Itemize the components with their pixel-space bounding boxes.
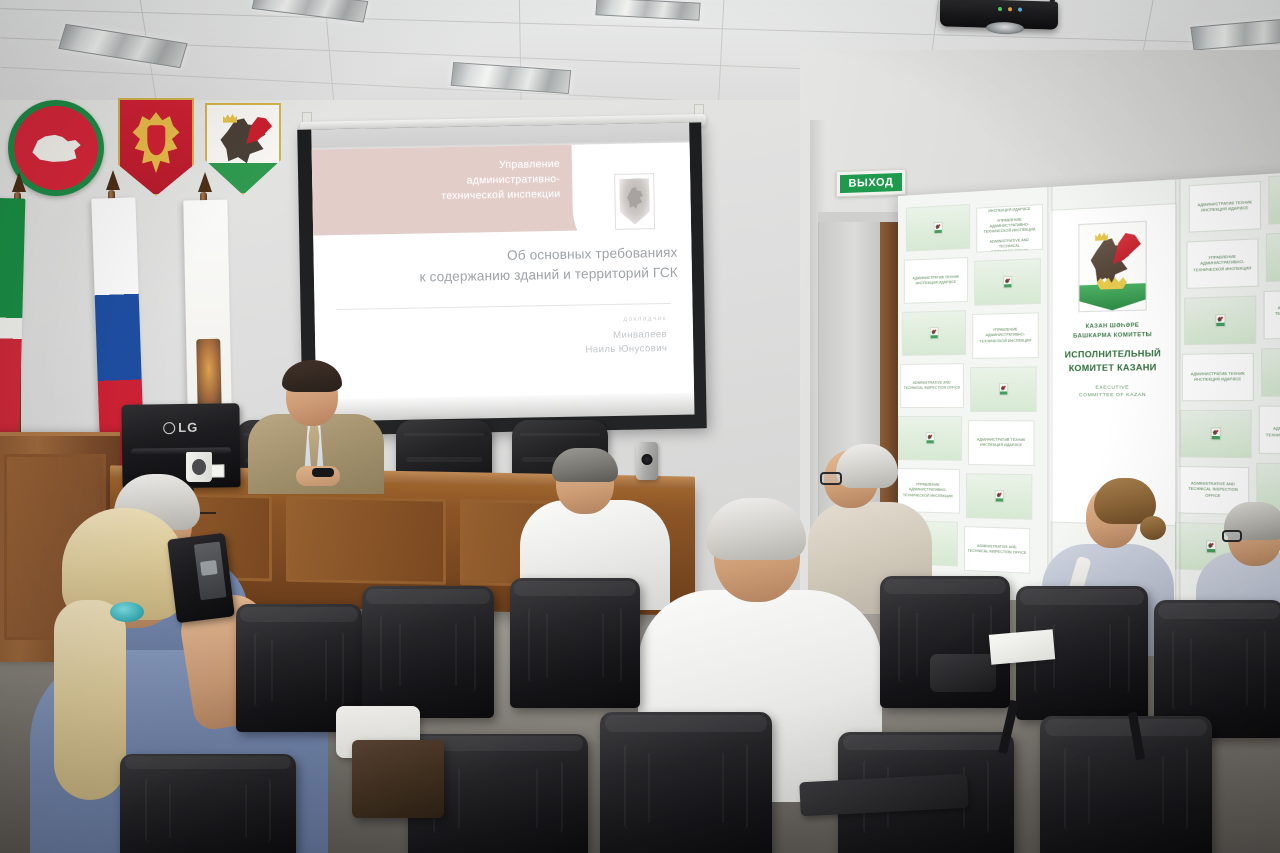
audience-hair-bun-knot xyxy=(1140,516,1166,540)
lg-logo: LG xyxy=(163,420,198,435)
press-wall-tile xyxy=(1268,172,1280,225)
press-wall-tile xyxy=(898,416,962,461)
audience-hair xyxy=(836,444,898,488)
slide-speaker-block: докладчик Минвалеев Наиль Юнусович xyxy=(585,315,668,358)
phone-viewfinder xyxy=(194,541,227,600)
press-wall-hero-logo: КАЗАН ШӘҺӘРЕ БАШКАРМА КОМИТЕТЫ ИСПОЛНИТЕ… xyxy=(1049,203,1177,526)
slide-speaker-label: докладчик xyxy=(585,315,667,323)
press-wall-russian-title: ИСПОЛНИТЕЛЬНЫЙ КОМИТЕТ КАЗАНИ xyxy=(1065,348,1161,375)
presentation-slide: Управление административно- технической … xyxy=(312,143,695,400)
slide-divider xyxy=(337,303,671,310)
press-wall-tile: УПРАВЛЕНИЕ АДМИНИСТРАТИВНО-ТЕХНИЧЕСКОЙ И… xyxy=(972,312,1039,359)
press-wall-tile xyxy=(902,310,966,356)
press-wall-tile: АДМИНИСТРАТИВ ТЕХНИК ИНСПЕКЦИЯ ИДАРӘСЕ xyxy=(968,420,1034,466)
press-wall-tile xyxy=(974,258,1041,306)
press-wall-tile: УПРАВЛЕНИЕ АДМИНИСТРАТИВНО-ТЕХНИЧЕСКОЙ И… xyxy=(1259,405,1280,454)
photographer-ponytail xyxy=(54,600,126,800)
press-wall-tile xyxy=(970,366,1037,412)
audience-chair[interactable] xyxy=(600,712,772,853)
press-wall-tile: УПРАВЛЕНИЕ АДМИНИСТРАТИВНО-ТЕХНИЧЕСКОЙ И… xyxy=(1186,238,1258,289)
slide-title: Об основных требованиях к содержанию зда… xyxy=(329,243,678,290)
audience-hair xyxy=(552,448,618,482)
press-wall-tile: АДМИНИСТРАТИВ ТЕХНИК ИНСПЕКЦИЯ ИДАРӘСЕ У… xyxy=(976,204,1043,253)
eyeglasses-icon xyxy=(820,472,842,485)
press-wall-tile xyxy=(1180,410,1252,458)
audience-chair[interactable] xyxy=(1040,716,1212,853)
dark-bag xyxy=(930,654,996,692)
hair-scrunchie xyxy=(110,602,144,622)
press-wall-tile xyxy=(966,473,1032,520)
slide-coat-of-arms-icon xyxy=(614,173,655,230)
slide-speaker-name: Минвалеев Наиль Юнусович xyxy=(585,328,667,358)
press-wall-tile xyxy=(1184,296,1256,346)
press-wall-tile-text: АДМИНИСТРАТИВ ТЕХНИК ИНСПЕКЦИЯ ИДАРӘСЕ У… xyxy=(977,204,1042,253)
press-wall-tile: АДМИНИСТРАТИВ ТЕХНИК ИНСПЕКЦИЯ ИДАРӘСЕ xyxy=(1189,181,1261,233)
conference-room-scene: ВЫХОД xyxy=(0,0,1280,853)
press-wall-tile xyxy=(1261,347,1280,397)
lg-mark-icon xyxy=(163,422,175,434)
smartphone[interactable] xyxy=(167,533,235,623)
eyeglasses-icon xyxy=(1222,530,1242,542)
press-wall-tile xyxy=(1266,230,1280,282)
press-wall-tile xyxy=(906,204,970,252)
kazan-coat-of-arms xyxy=(205,103,281,195)
press-wall-tatar-title: КАЗАН ШӘҺӘРЕ БАШКАРМА КОМИТЕТЫ xyxy=(1073,321,1152,341)
slide-organization-text: Управление административно- технической … xyxy=(350,157,561,206)
audience-chair[interactable] xyxy=(362,586,494,718)
kazan-zilant-emblem-icon xyxy=(1078,221,1146,313)
presentation-clicker[interactable] xyxy=(312,468,334,477)
projection-screen: Управление административно- технической … xyxy=(297,122,707,435)
press-wall-tile: ADMINISTRATIVE AND TECHNICAL INSPECTION … xyxy=(1263,289,1280,340)
audience-hair xyxy=(706,498,806,560)
press-wall-tile: АДМИНИСТРАТИВ ТЕХНИК ИНСПЕКЦИЯ ИДАРӘСЕ xyxy=(1182,353,1254,402)
press-wall-tile: ADMINISTRATIVE AND TECHNICAL INSPECTION … xyxy=(900,363,964,408)
russia-coat-of-arms xyxy=(118,98,194,196)
leather-briefcase xyxy=(352,740,444,818)
press-wall-english-title: EXECUTIVE COMMITTEE OF KAZAN xyxy=(1079,383,1146,399)
press-wall-tile: ADMINISTRATIVE AND TECHNICAL INSPECTION … xyxy=(964,526,1030,574)
desk-speaker xyxy=(636,442,658,480)
ceiling-projector xyxy=(940,0,1058,30)
press-wall-tile: АДМИНИСТРАТИВ ТЕХНИК ИНСПЕКЦИЯ ИДАРӘСЕ xyxy=(904,257,968,304)
audience-chair[interactable] xyxy=(510,578,640,708)
monitor-brand-label: LG xyxy=(178,420,198,435)
paper-sheet xyxy=(989,629,1055,664)
projection-screen-surface: Управление административно- технической … xyxy=(311,123,694,422)
audience-chair[interactable] xyxy=(120,754,296,853)
exit-sign-label: ВЫХОД xyxy=(848,176,893,190)
exit-sign: ВЫХОД xyxy=(836,169,906,197)
